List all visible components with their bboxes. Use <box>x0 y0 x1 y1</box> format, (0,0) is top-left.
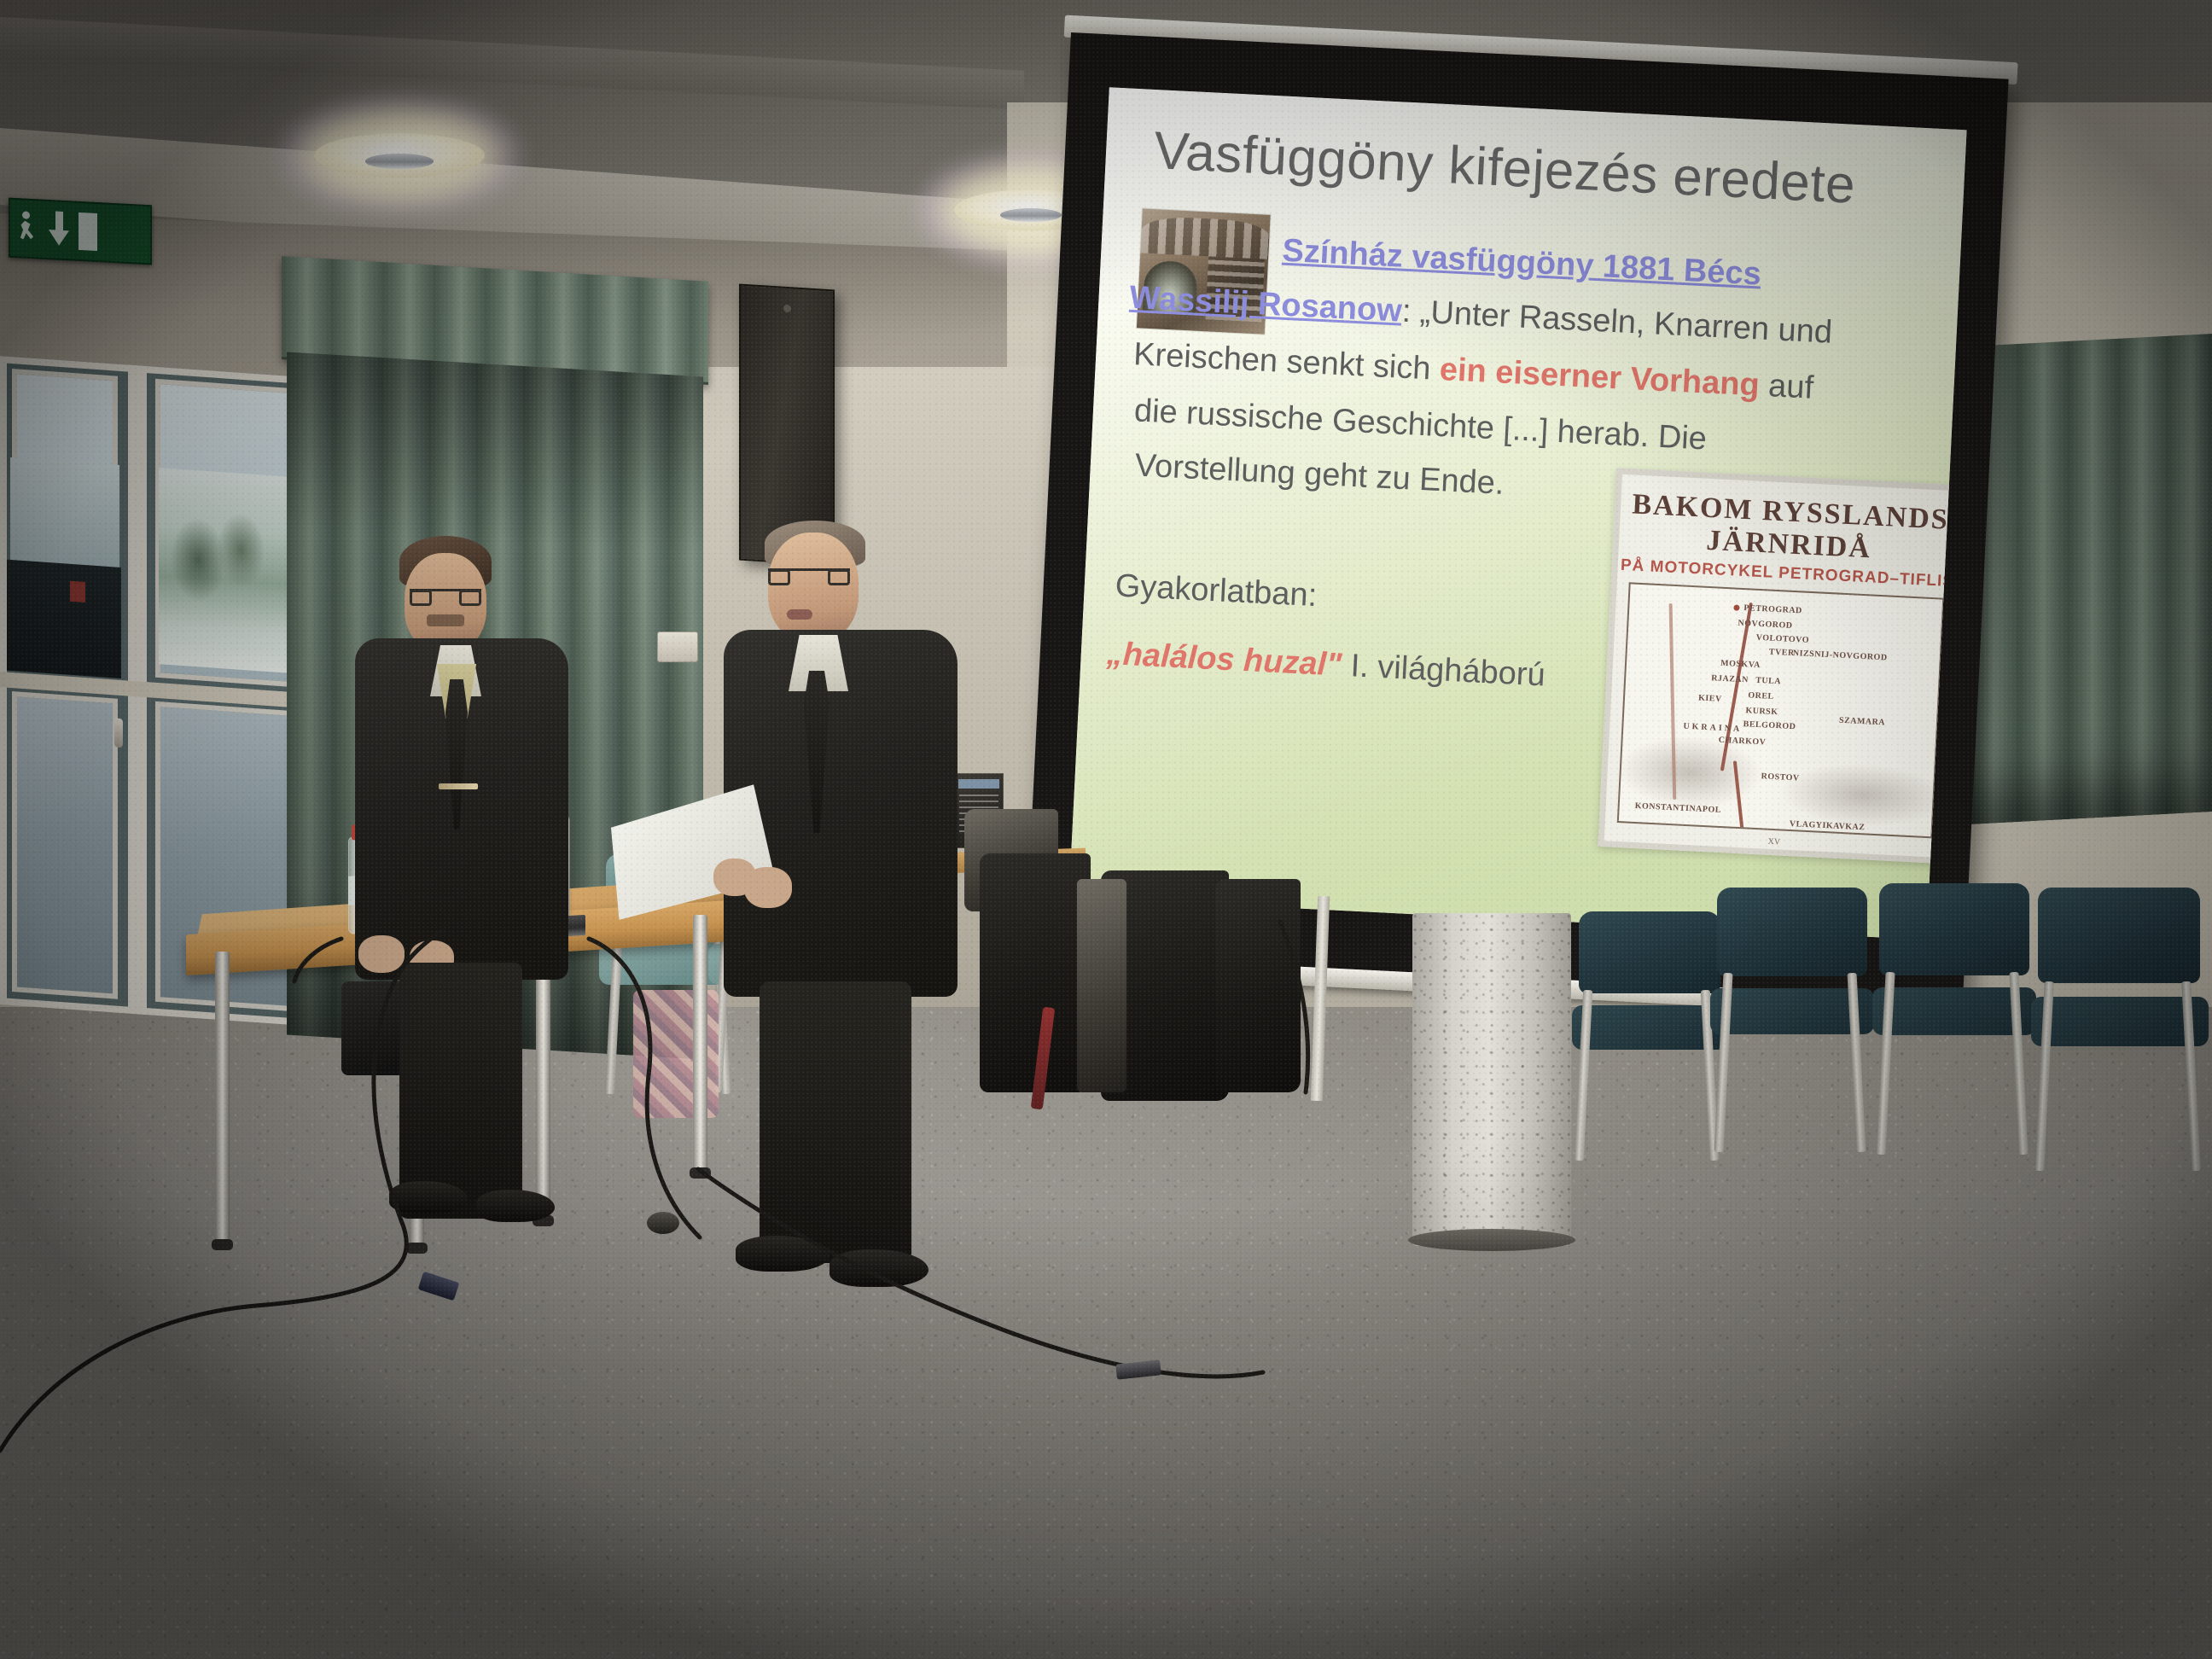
light-core <box>365 154 434 169</box>
shoe <box>736 1236 829 1272</box>
arrow-down-icon <box>46 211 72 250</box>
table-foot <box>690 1167 711 1179</box>
fire-extinguisher-box <box>70 581 85 602</box>
tie-clip <box>439 783 478 789</box>
moustache <box>427 614 464 626</box>
table-foot <box>406 1243 428 1254</box>
audience-chair[interactable] <box>1707 888 1877 1161</box>
running-man-icon <box>17 211 41 246</box>
shoe <box>389 1181 468 1214</box>
slide-title: Vasfüggöny kifejezés eredete <box>1152 120 1905 218</box>
corridor-cabinet <box>7 560 121 678</box>
map-city-label: MOSKVA <box>1720 659 1761 670</box>
draped-coat-lining <box>1077 879 1126 1092</box>
map-city-label: ROSTOV <box>1761 771 1800 783</box>
map-frame: PETROGRAD NOVGOROD VOLOTOVO TVER NIZSNIJ… <box>1617 582 1945 838</box>
chair-back <box>1579 911 1720 993</box>
theatre-arches <box>1140 215 1270 259</box>
slide-practice-suffix: I. világháború <box>1341 648 1546 694</box>
trousers <box>399 963 522 1219</box>
map-dot-petrograd <box>1733 604 1739 610</box>
map-city-label: PETROGRAD <box>1743 603 1802 615</box>
table-foot <box>212 1239 233 1250</box>
draped-coat <box>1215 879 1301 1092</box>
map-city-label: NIZSNIJ-NOVGOROD <box>1793 649 1888 662</box>
ceiling-light-left <box>314 133 485 178</box>
wall-socket <box>657 632 698 662</box>
slide-practice-line: „halálos huzal" I. világháború <box>1106 634 1546 696</box>
screen-support-column <box>1412 913 1571 1246</box>
audience-chair[interactable] <box>2028 888 2212 1178</box>
map-city-label: KURSK <box>1745 706 1778 717</box>
chair-back <box>2038 888 2200 983</box>
presenter-reading <box>715 521 988 1203</box>
door-pane-lower-left <box>12 691 118 999</box>
map-city-label: UKRAINA <box>1683 722 1742 734</box>
table-leg <box>693 915 707 1171</box>
emergency-exit-icon <box>9 198 152 265</box>
slide-background: Vasfüggöny kifejezés eredete Színház vas… <box>1069 87 1967 940</box>
map-city-label: TULA <box>1755 676 1781 686</box>
slide-quote-2b: auf <box>1759 368 1814 406</box>
door-icon <box>79 212 97 251</box>
slide-quote-highlight: ein eiserner Vorhang <box>1439 352 1761 404</box>
map-route-south <box>1733 760 1750 838</box>
slide-quote-2a: Kreischen senkt sich <box>1132 336 1441 387</box>
map-city-label: TVER <box>1769 648 1795 658</box>
head <box>768 533 859 642</box>
audience-chair[interactable] <box>1869 883 2040 1165</box>
draped-coat <box>980 853 1091 1092</box>
map-city-label: SZAMARA <box>1839 716 1886 728</box>
chair-back <box>1717 888 1867 976</box>
slide-practice-label: Gyakorlatban: <box>1115 566 1318 616</box>
slide-link-1-line: Színház vasfüggöny 1881 Bécs <box>1281 231 1761 295</box>
slide-link-theatre[interactable]: Színház vasfüggöny 1881 Bécs <box>1282 233 1762 293</box>
door-handle[interactable] <box>114 718 123 748</box>
map-city-label: VLAGYIKAVKAZ <box>1790 819 1866 832</box>
chair-back <box>1879 883 2029 975</box>
glasses-icon <box>410 589 481 600</box>
shoe <box>829 1249 928 1287</box>
map-city-label: KIEV <box>1698 694 1722 704</box>
glasses-icon <box>768 568 850 579</box>
slide-map-image: BAKOM RYSSLANDS JÄRNRIDÅ PÅ MOTORCYKEL P… <box>1598 468 1966 864</box>
column-base <box>1408 1229 1575 1251</box>
power-adapter <box>647 1212 679 1234</box>
slide-practice-term: „halálos huzal" <box>1106 636 1342 684</box>
map-city-label: BELGOROD <box>1743 719 1796 731</box>
map-city-label: RJAZAN <box>1711 673 1749 684</box>
presenter-at-laptop <box>338 536 594 1150</box>
hand <box>713 859 756 896</box>
hand <box>358 935 405 973</box>
shoe <box>476 1190 555 1222</box>
map-route-west <box>1669 603 1677 800</box>
map-city-label: KONSTANTINAPOL <box>1634 801 1721 815</box>
slide-quote-prefix: : „Unter Rasseln, Knarren und <box>1401 294 1833 351</box>
map-city-label: OREL <box>1748 690 1774 701</box>
map-city-label: VOLOTOVO <box>1755 633 1809 645</box>
projected-slide: Vasfüggöny kifejezés eredete Színház vas… <box>1069 87 1967 940</box>
slide-quote-line-4: Vorstellung geht zu Ende. <box>1134 445 1505 504</box>
conference-room-photo: Vasfüggöny kifejezés eredete Színház vas… <box>0 0 2212 1659</box>
table-leg <box>215 952 230 1242</box>
trousers <box>760 981 911 1263</box>
mouth <box>787 609 812 620</box>
outdoor-tree-view <box>159 468 287 672</box>
